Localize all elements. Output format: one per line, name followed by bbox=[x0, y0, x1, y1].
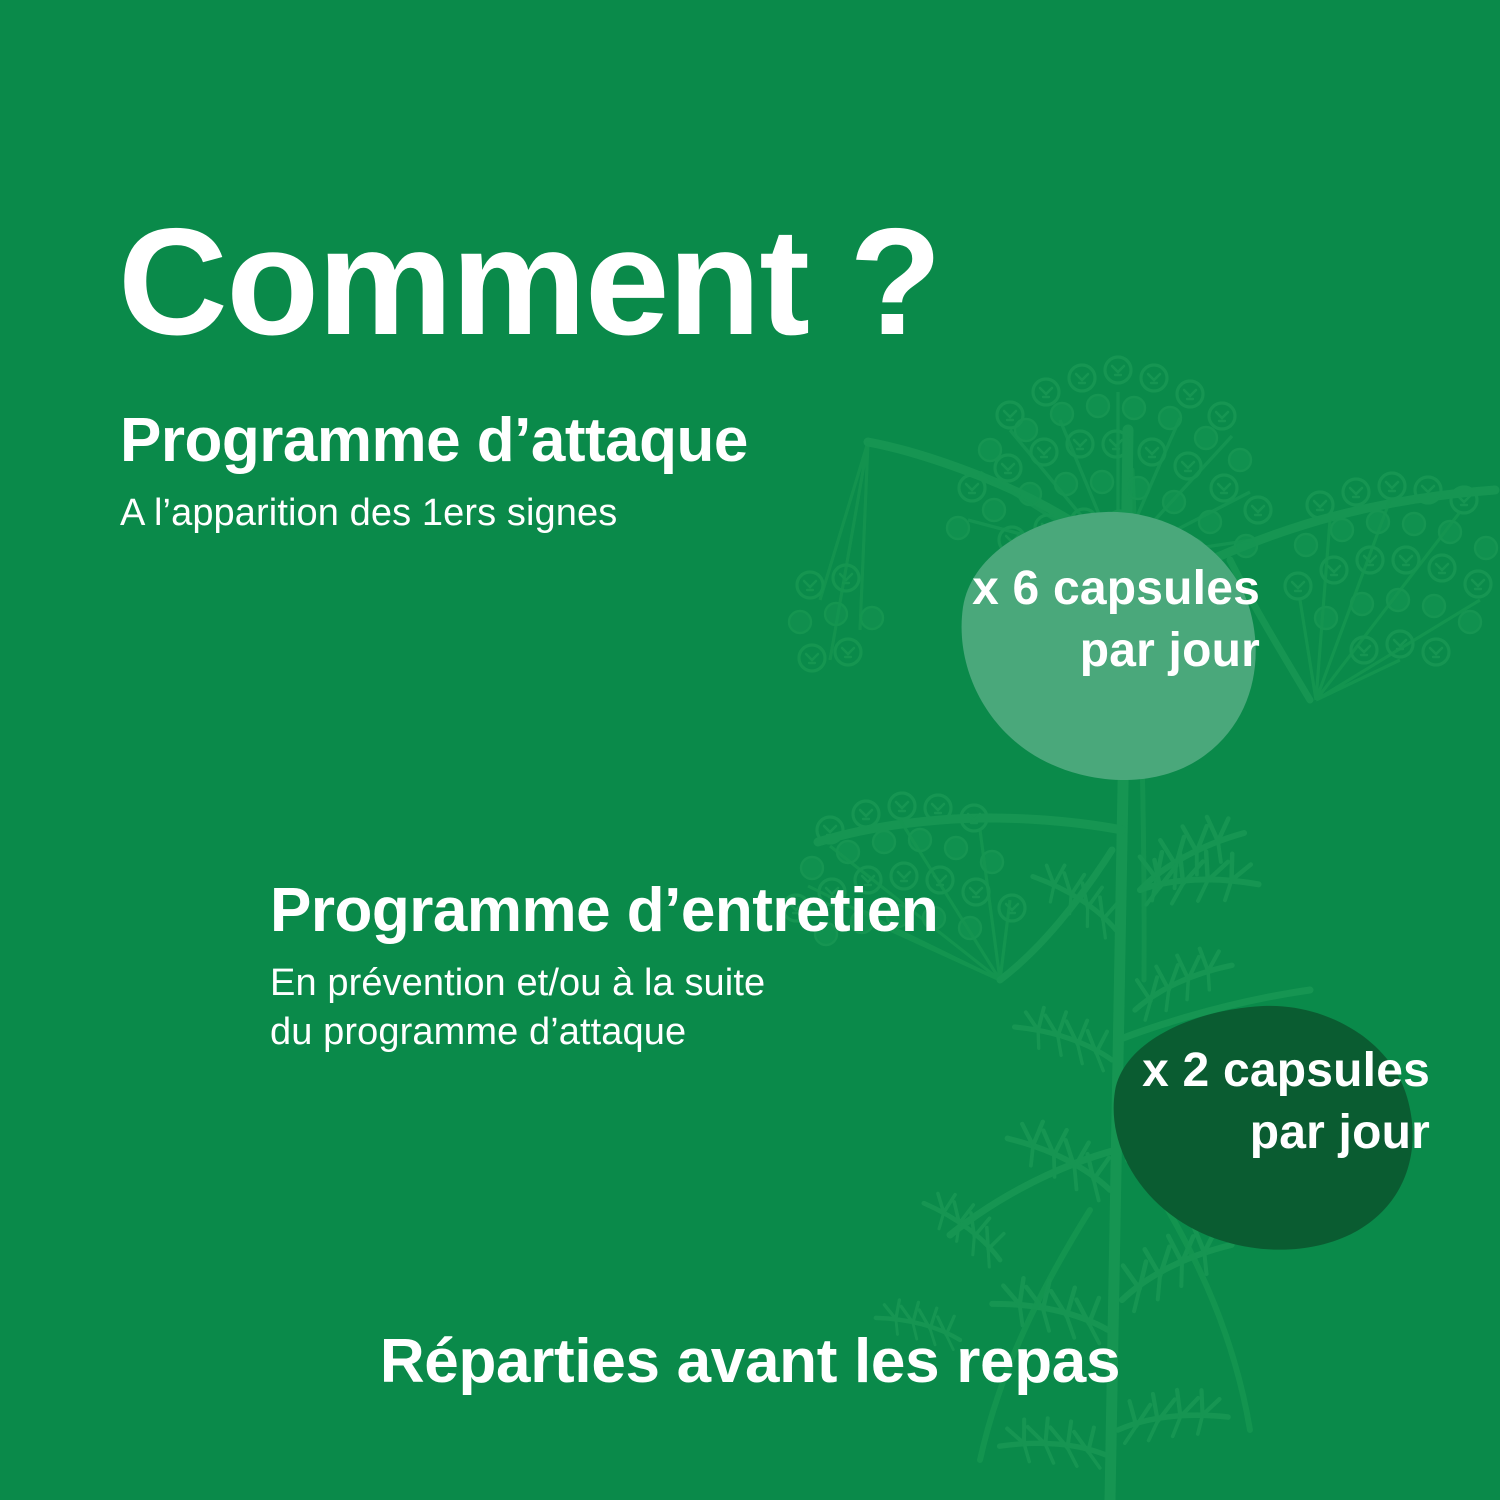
section-subtitle-attaque: A l’apparition des 1ers signes bbox=[120, 489, 748, 538]
dose-label-entretien: x 2 capsules par jour bbox=[915, 1040, 1430, 1165]
poster-canvas: Comment ? Programme d’attaque A l’appari… bbox=[0, 0, 1500, 1500]
section-heading-entretien: Programme d’entretien bbox=[270, 878, 938, 945]
footer-note: Réparties avant les repas bbox=[0, 1326, 1500, 1397]
section-programme-attaque: Programme d’attaque A l’apparition des 1… bbox=[120, 408, 748, 538]
section-heading-attaque: Programme d’attaque bbox=[120, 408, 748, 475]
dose-label-attaque: x 6 capsules par jour bbox=[760, 558, 1260, 683]
page-title: Comment ? bbox=[118, 206, 941, 358]
section-programme-entretien: Programme d’entretien En prévention et/o… bbox=[270, 878, 938, 1058]
section-subtitle-entretien: En prévention et/ou à la suite du progra… bbox=[270, 959, 938, 1058]
